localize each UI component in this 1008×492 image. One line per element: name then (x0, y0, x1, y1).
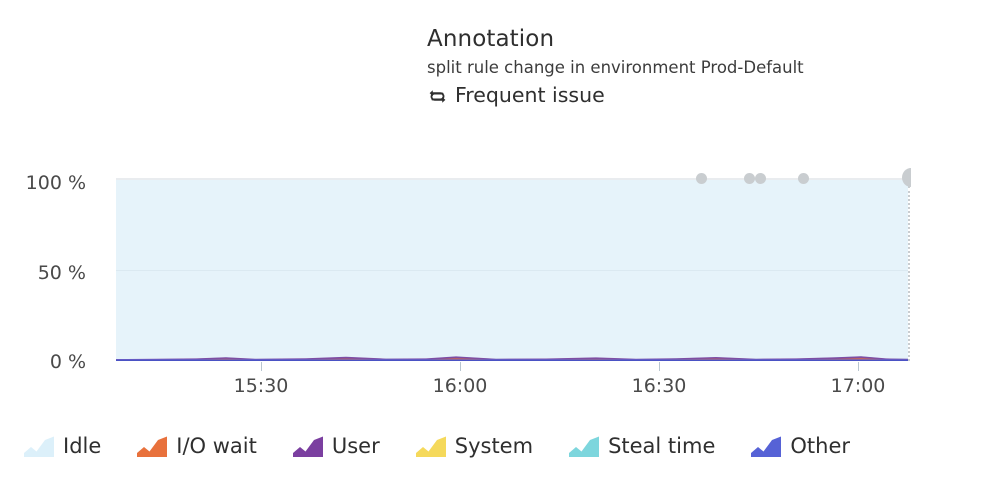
legend-item-io-wait[interactable]: I/O wait (137, 434, 257, 458)
annotation-tag: Frequent issue (427, 82, 947, 108)
selected-event-line (908, 186, 910, 361)
legend-label: Idle (63, 434, 101, 458)
legend-item-other[interactable]: Other (751, 434, 850, 458)
annotation-tag-label: Frequent issue (455, 82, 605, 108)
event-dot[interactable] (744, 173, 755, 184)
y-axis-label-0: 0 % (0, 353, 86, 372)
legend-item-idle[interactable]: Idle (24, 434, 101, 458)
legend-item-user[interactable]: User (293, 434, 380, 458)
legend-item-system[interactable]: System (416, 434, 533, 458)
y-axis-label-100: 100 % (0, 174, 86, 193)
event-dot[interactable] (798, 173, 809, 184)
x-axis-tick-1 (261, 362, 262, 371)
area-chart-icon (137, 435, 167, 457)
x-axis-label-3: 16:30 (599, 375, 719, 397)
legend-label: I/O wait (176, 434, 257, 458)
legend-label: Steal time (608, 434, 715, 458)
area-chart-icon (569, 435, 599, 457)
y-axis-label-50: 50 % (0, 264, 86, 283)
repeat-icon (427, 86, 448, 107)
x-axis-label-1: 15:30 (201, 375, 321, 397)
legend-label: User (332, 434, 380, 458)
x-axis-tick-3 (659, 362, 660, 371)
x-axis-label-2: 16:00 (400, 375, 520, 397)
x-axis-label-4: 17:00 (798, 375, 918, 397)
annotation-title: Annotation (427, 24, 947, 54)
x-axis-tick-2 (460, 362, 461, 371)
area-chart-icon (751, 435, 781, 457)
gridline-50 (116, 270, 908, 271)
legend-item-steal-time[interactable]: Steal time (569, 434, 715, 458)
event-dot[interactable] (755, 173, 766, 184)
area-chart-icon (293, 435, 323, 457)
annotation-subtitle: split rule change in environment Prod-De… (427, 56, 947, 80)
legend-label: Other (790, 434, 850, 458)
event-dot[interactable] (696, 173, 707, 184)
legend-label: System (455, 434, 533, 458)
area-chart-icon (416, 435, 446, 457)
annotation-tooltip: Annotation split rule change in environm… (427, 24, 947, 108)
chart-legend: Idle I/O wait User System (0, 424, 1008, 468)
stacked-series-band (116, 352, 908, 361)
area-chart-icon (24, 435, 54, 457)
x-axis-tick-4 (858, 362, 859, 371)
